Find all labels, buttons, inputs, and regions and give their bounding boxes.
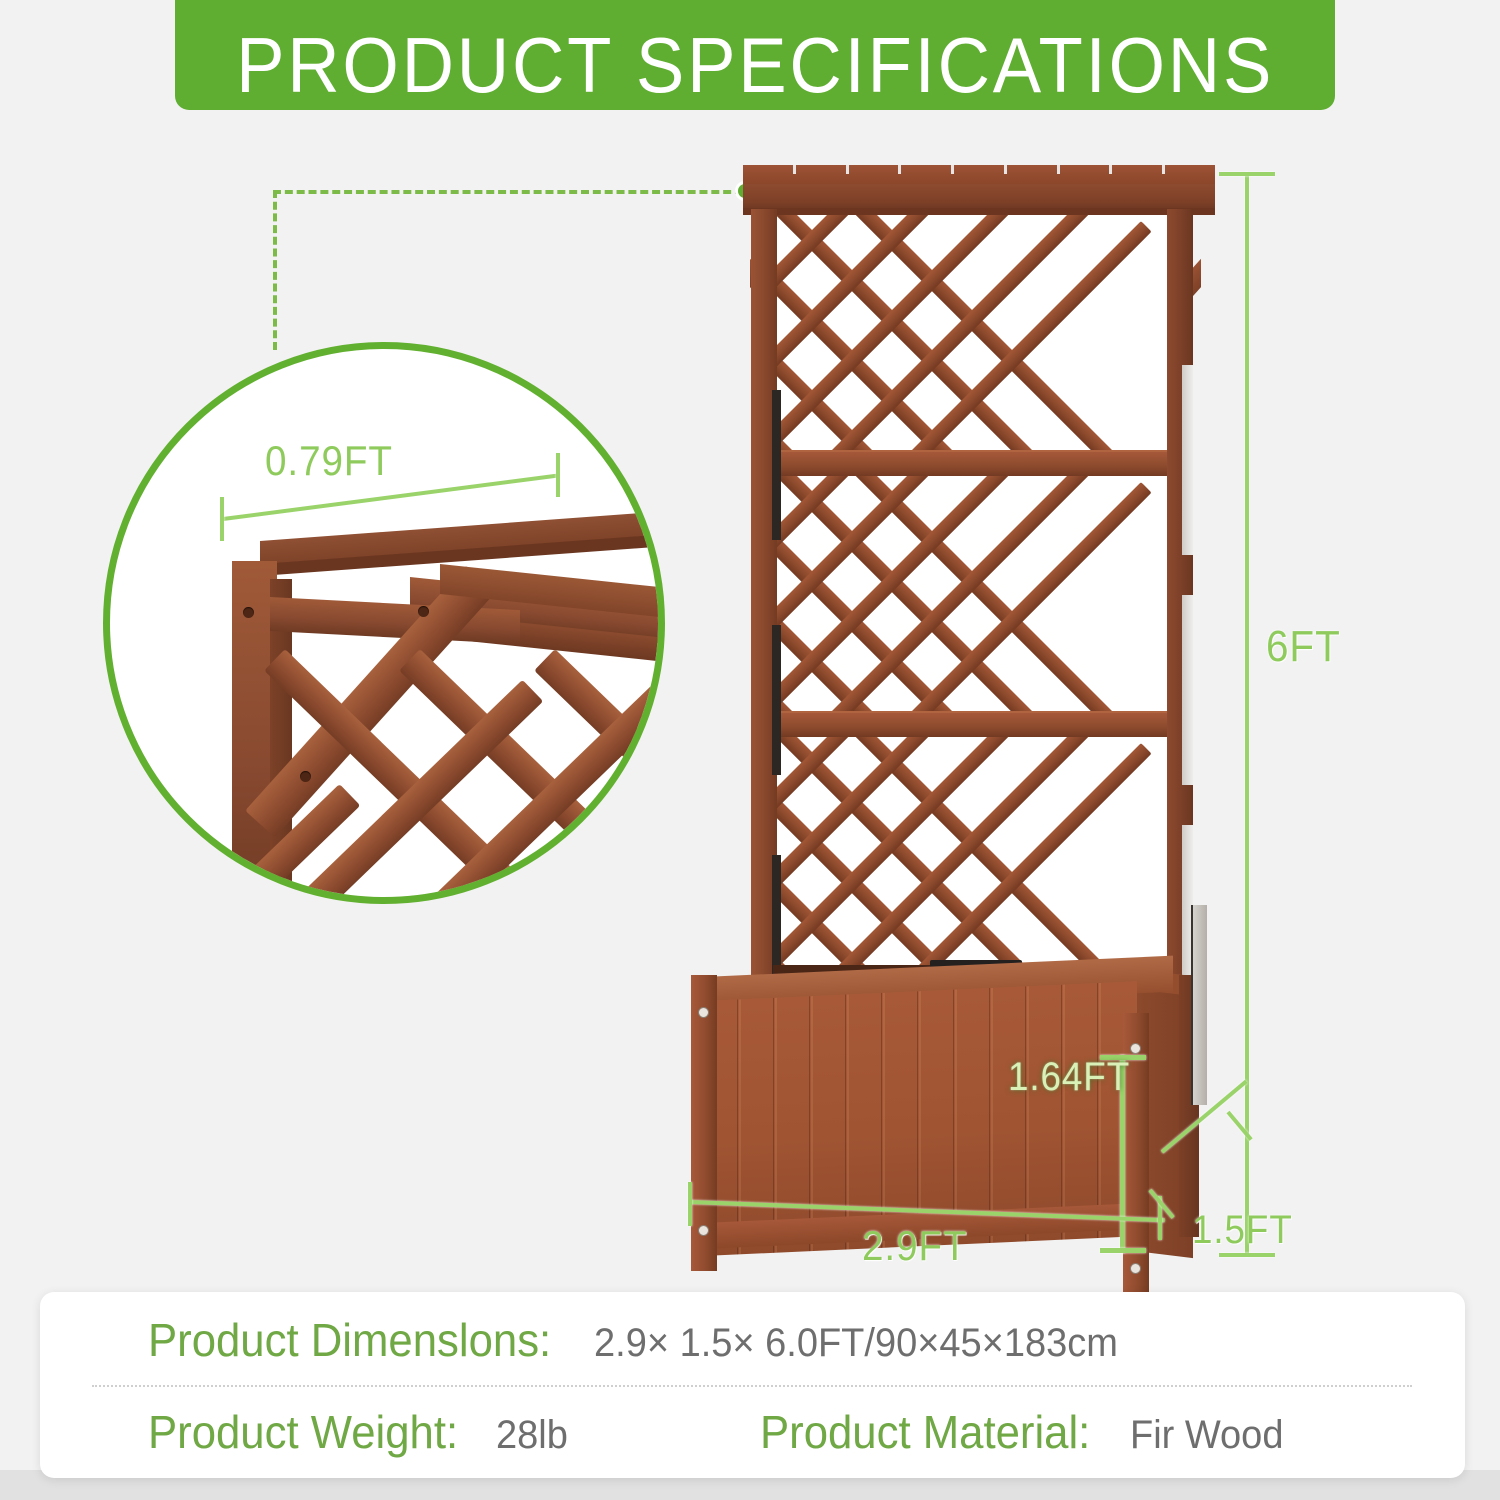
roof-slat xyxy=(796,165,849,174)
planter-plank-seam xyxy=(773,998,774,1253)
spec-cell-weight: Product Weight: 28lb xyxy=(148,1405,572,1459)
roof-slat xyxy=(1165,165,1215,174)
detail-screw-brace-bottom xyxy=(300,771,311,782)
spec-value-dimensions: 2.9× 1.5× 6.0FT/90×45×183cm xyxy=(594,1321,1118,1366)
detail-screw-brace-top xyxy=(418,606,429,617)
post-shadow-left xyxy=(772,390,781,540)
detail-callout-content xyxy=(110,349,658,897)
lattice-panel-middle xyxy=(777,476,1167,711)
spec-row-weight-material: Product Weight: 28lb Product Material: F… xyxy=(40,1386,1465,1478)
product-image xyxy=(655,165,1215,1270)
planter-plank-seam xyxy=(737,999,738,1254)
planter-plank-highlight xyxy=(775,998,777,1253)
planter-plank-highlight xyxy=(991,988,993,1243)
planter-plank-highlight xyxy=(1027,986,1029,1241)
product-illustration-stage: 0.79FT xyxy=(0,110,1500,1280)
spec-cell-material: Product Material: Fir Wood xyxy=(760,1405,1291,1459)
lattice-mid-rail-1 xyxy=(751,450,1193,478)
roof-slat xyxy=(954,165,1007,174)
planter-plank-seam xyxy=(989,988,990,1243)
roof-slat xyxy=(1060,165,1113,174)
detail-dim-cap-left xyxy=(220,497,224,541)
leg-screw xyxy=(698,1225,709,1236)
spec-label-dimensions: Product Dimenslons: xyxy=(148,1313,551,1367)
header-banner: PRODUCT SPECIFICATIONS xyxy=(175,0,1335,110)
spec-value-material: Fir Wood xyxy=(1130,1413,1283,1458)
roof-slat xyxy=(743,165,796,174)
detail-dim-cap-right xyxy=(556,453,560,497)
planter-height-dim-label: 1.64FT xyxy=(1008,1055,1130,1100)
depth-dim-label: 1.5FT xyxy=(1192,1208,1293,1253)
page-title: PRODUCT SPECIFICATIONS xyxy=(236,26,1274,104)
height-dim-cap-bottom xyxy=(1219,1253,1275,1257)
height-dim-line xyxy=(1245,172,1249,1257)
post-highlight-right xyxy=(1182,365,1193,555)
roof-slat xyxy=(1007,165,1060,174)
planter-plank-seam xyxy=(809,996,810,1251)
height-dim-cap-top xyxy=(1219,172,1275,176)
hinge-strip-right xyxy=(1191,905,1207,1105)
leg-screw xyxy=(1130,1043,1141,1054)
planter-plank-highlight xyxy=(1099,983,1101,1238)
planter-plank-seam xyxy=(1061,985,1062,1240)
lattice-panel-bottom xyxy=(777,737,1167,979)
leader-line-vertical xyxy=(273,190,277,350)
height-dim-label: 6FT xyxy=(1266,622,1341,672)
planter-plank-seam xyxy=(845,995,846,1250)
planter-plank-highlight xyxy=(739,999,741,1254)
roof-front-board xyxy=(743,184,1215,210)
post-highlight-right xyxy=(1182,595,1193,785)
planter-plank-highlight xyxy=(955,989,957,1244)
width-dim-label: 2.9FT xyxy=(862,1222,968,1270)
roof-slats xyxy=(743,165,1215,185)
planter-plank-seam xyxy=(953,990,954,1245)
detail-screw-post xyxy=(243,607,254,618)
spec-label-material: Product Material: xyxy=(760,1405,1090,1459)
planter-height-dim-cap-bottom xyxy=(1100,1248,1146,1253)
width-dim-cap-left xyxy=(688,1182,692,1226)
spec-cell-dimensions: Product Dimenslons: 2.9× 1.5× 6.0FT/90×4… xyxy=(148,1313,1146,1367)
planter-plank-highlight xyxy=(811,996,813,1251)
leg-screw xyxy=(1130,1263,1141,1274)
detail-dim-label: 0.79FT xyxy=(265,437,393,485)
post-shadow-left xyxy=(772,855,781,975)
spec-row-dimensions: Product Dimenslons: 2.9× 1.5× 6.0FT/90×4… xyxy=(40,1294,1465,1386)
roof-slat xyxy=(849,165,902,174)
spec-table: Product Dimenslons: 2.9× 1.5× 6.0FT/90×4… xyxy=(40,1292,1465,1478)
planter-plank-seam xyxy=(1025,986,1026,1241)
planter-plank-highlight xyxy=(847,994,849,1249)
roof-slat xyxy=(901,165,954,174)
lattice-mid-rail-2 xyxy=(751,711,1193,739)
leg-screw xyxy=(698,1007,709,1018)
planter-plank-seam xyxy=(1097,983,1098,1238)
spec-label-weight: Product Weight: xyxy=(148,1405,458,1459)
planter-plank-highlight xyxy=(1063,985,1065,1240)
detail-callout-circle: 0.79FT xyxy=(103,342,665,904)
planter-leg-front-left xyxy=(691,975,717,1271)
lattice-panel-top xyxy=(777,215,1167,450)
roof-slat xyxy=(1112,165,1165,174)
post-shadow-left xyxy=(772,625,781,775)
spec-value-weight: 28lb xyxy=(496,1413,568,1458)
